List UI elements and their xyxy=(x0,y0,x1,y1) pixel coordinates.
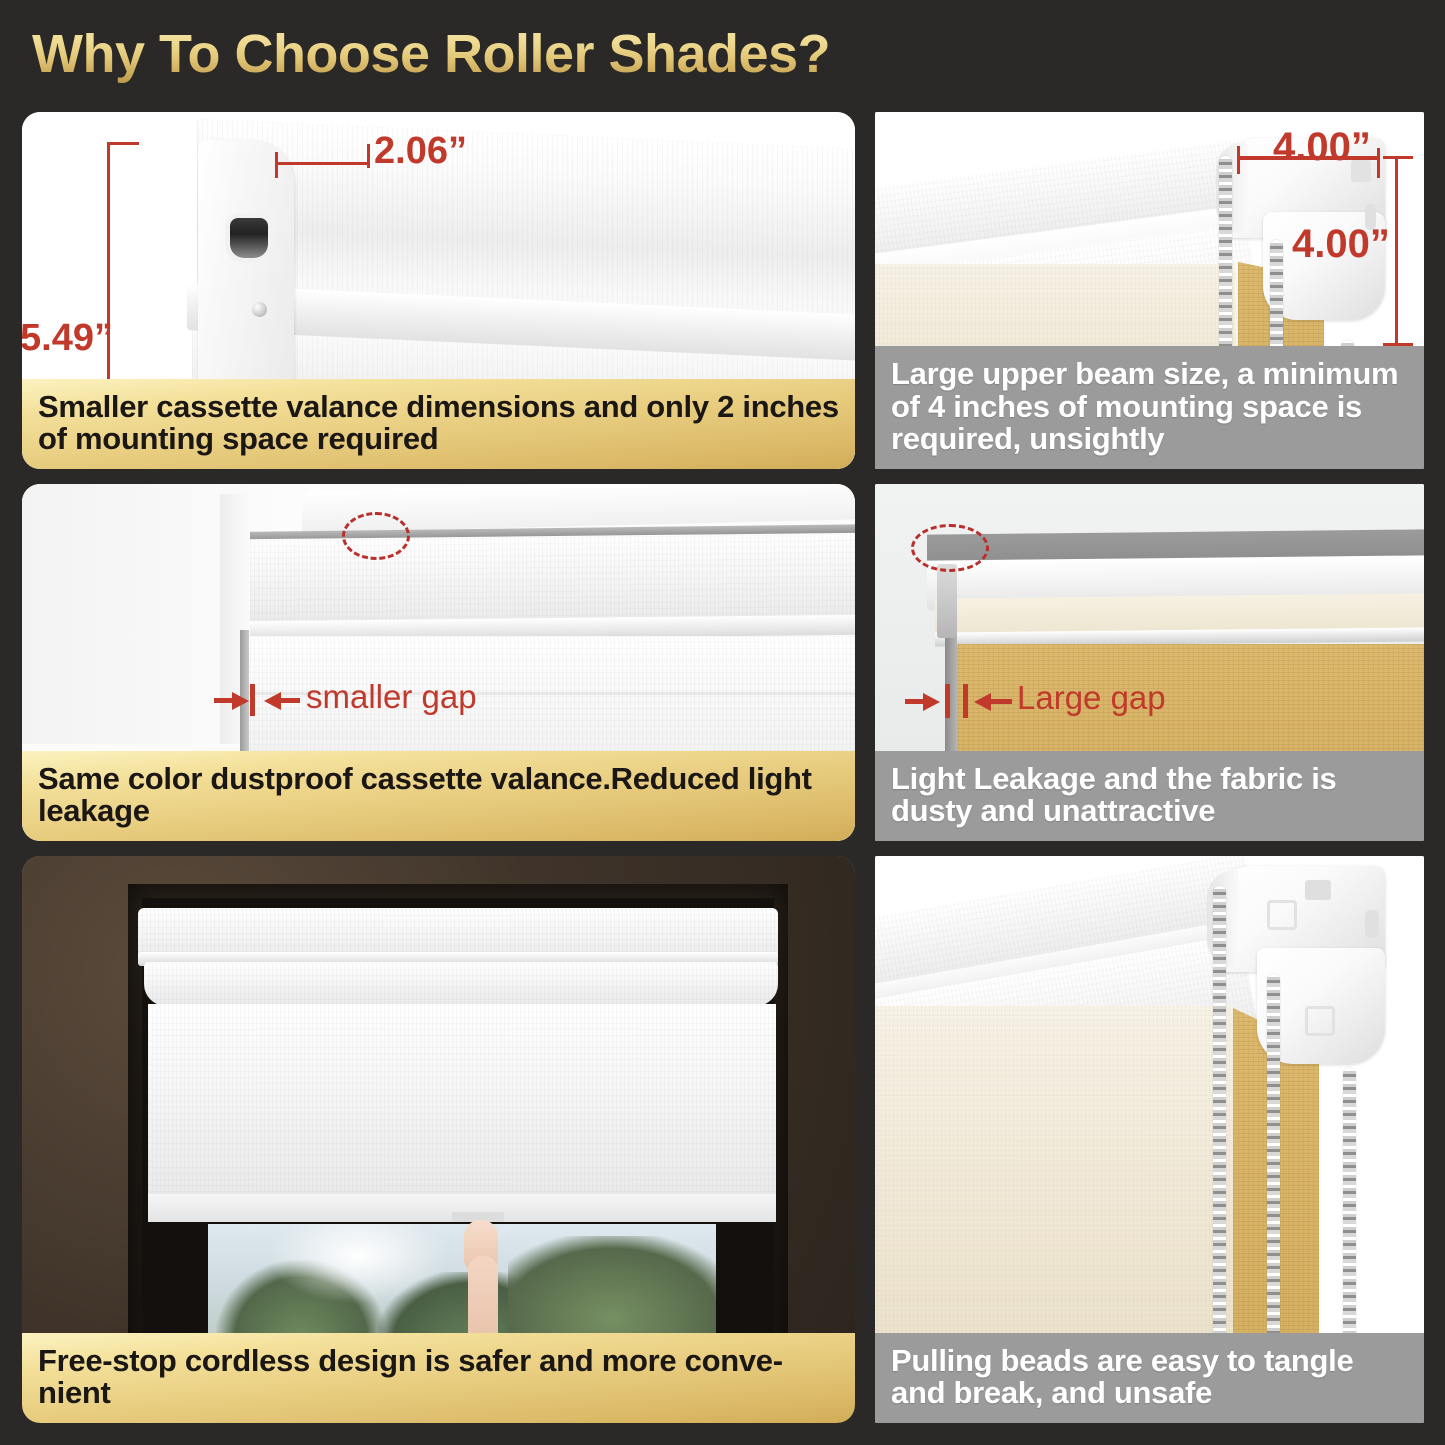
panel-1-caption: Smaller cassette valance dimensions and … xyxy=(22,379,855,469)
panel-smaller-cassette-valance: 2.06” 5.49” Smaller cassette valance dim… xyxy=(22,112,855,469)
gap-arrow-right-icon xyxy=(232,692,249,710)
gap-marker-bar xyxy=(250,684,255,716)
panel-4-caption: Light Leakage and the fabric is dusty an… xyxy=(875,751,1424,841)
gap-label-large: Large gap xyxy=(1017,679,1166,717)
gap-marker-bar-a xyxy=(945,684,950,718)
bracket-notch-b xyxy=(1365,910,1379,938)
seal-highlight-circle xyxy=(342,512,410,560)
dimension-beam-height-label: 4.00” xyxy=(1292,222,1390,267)
dimension-height-label: 5.49” xyxy=(22,317,113,360)
sky-glow xyxy=(268,1224,448,1304)
gap-highlight-ellipse xyxy=(911,524,989,572)
panel-2-caption: Large upper beam size, a minimum of 4 in… xyxy=(875,346,1424,469)
panel-3-caption: Same color dustproof cassette valance.Re… xyxy=(22,751,855,841)
bracket-slot xyxy=(230,218,268,258)
gap-arrow-right-icon xyxy=(923,693,940,711)
mount-hardware xyxy=(937,564,957,638)
bracket-screw xyxy=(252,302,267,317)
gap-arrow-left-icon xyxy=(974,693,991,711)
panel-light-leakage: Large gap Light Leakage and the fabric i… xyxy=(875,484,1424,841)
dimension-beam-width-label: 4.00” xyxy=(1273,125,1371,170)
bracket-notch-a xyxy=(1305,880,1331,900)
header-bar: Why To Choose Roller Shades? xyxy=(0,0,1445,108)
panel-5-caption: Free-stop cordless design is safer and m… xyxy=(22,1333,855,1423)
page-title: Why To Choose Roller Shades? xyxy=(32,23,830,85)
shade-fabric xyxy=(148,1004,776,1204)
gap-marker-bar-b xyxy=(963,684,968,718)
panel-dustproof-cassette-valance: smaller gap Same color dustproof cassett… xyxy=(22,484,855,841)
panel-large-upper-beam: 4.00” 4.00” Large upper beam size, a min… xyxy=(875,112,1424,469)
dimension-width-label: 2.06” xyxy=(374,130,467,173)
gap-arrow-left-icon xyxy=(264,692,281,710)
panel-pulling-beads-unsafe: Pulling beads are easy to tangle and bre… xyxy=(875,856,1424,1423)
panel-6-caption: Pulling beads are easy to tangle and bre… xyxy=(875,1333,1424,1423)
panel-free-stop-cordless: Free-stop cordless design is safer and m… xyxy=(22,856,855,1423)
bracket-arrow-glyph-bottom xyxy=(1305,1006,1335,1036)
bracket-arrow-glyph-top xyxy=(1267,900,1297,930)
valance-roller-lip xyxy=(144,962,778,1006)
gap-label-small: smaller gap xyxy=(306,678,477,716)
